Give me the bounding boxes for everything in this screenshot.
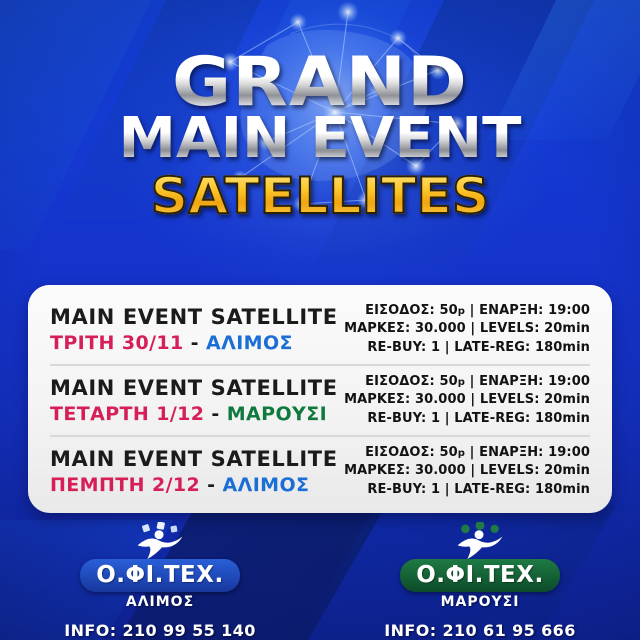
title-line-satellites: SATELLITES	[0, 171, 640, 221]
event-date: ΤΡΙΤΗ 30/11	[50, 332, 184, 354]
juggler-figure-icon	[129, 522, 191, 561]
event-detail-line-3: RE-BUY: 1 | LATE-REG: 180min	[344, 410, 590, 428]
brand-block-marousi: Ο.ΦΙ.ΤΕΧ. ΜΑΡΟΥΣΙ INFO: 210 61 95 666	[320, 520, 640, 640]
buyin-value: 50	[439, 445, 457, 460]
chips-label: ΜΑΡΚΕΣ:	[344, 463, 410, 478]
latereg-label: LATE-REG:	[454, 482, 530, 497]
event-details: ΕΙΣΟΔΟΣ: 50p | ΕΝΑΡΞΗ: 19:00 ΜΑΡΚΕΣ: 30.…	[344, 373, 590, 428]
start-value: 19:00	[548, 445, 590, 460]
brand-info-phone: INFO: 210 99 55 140	[64, 621, 255, 640]
event-detail-line-3: RE-BUY: 1 | LATE-REG: 180min	[344, 339, 590, 357]
levels-label: LEVELS:	[480, 392, 540, 407]
start-label: ΕΝΑΡΞΗ:	[479, 303, 543, 318]
levels-value: 20min	[544, 392, 590, 407]
table-row: MAIN EVENT SATELLITE ΠΕΜΠΤΗ 2/12 - ΑΛΙΜΟ…	[50, 435, 590, 505]
event-separator: -	[200, 474, 222, 496]
chips-value: 30.000	[415, 321, 466, 336]
chips-label: ΜΑΡΚΕΣ:	[344, 392, 410, 407]
latereg-value: 180min	[535, 340, 590, 355]
buyin-unit: p	[458, 306, 465, 317]
chips-value: 30.000	[415, 463, 466, 478]
juggler-figure-icon	[449, 522, 511, 561]
event-detail-line-1: ΕΙΣΟΔΟΣ: 50p | ΕΝΑΡΞΗ: 19:00	[344, 302, 590, 320]
event-detail-line-1: ΕΙΣΟΔΟΣ: 50p | ΕΝΑΡΞΗ: 19:00	[344, 444, 590, 462]
buyin-unit: p	[458, 448, 465, 459]
start-value: 19:00	[548, 303, 590, 318]
schedule-card: MAIN EVENT SATELLITE ΤΡΙΤΗ 30/11 - ΑΛΙΜΟ…	[28, 285, 612, 513]
rebuy-value: 1	[431, 340, 440, 355]
footer: Ο.ΦΙ.ΤΕΧ. ΑΛΙΜΟΣ INFO: 210 99 55 140 Ο.Φ…	[0, 520, 640, 640]
brand-city: ΜΑΡΟΥΣΙ	[441, 594, 520, 610]
event-venue: ΑΛΙΜΟΣ	[223, 474, 310, 496]
table-row: MAIN EVENT SATELLITE ΤΕΤΑΡΤΗ 1/12 - ΜΑΡΟ…	[50, 364, 590, 434]
start-label: ΕΝΑΡΞΗ:	[479, 445, 543, 460]
buyin-value: 50	[439, 303, 457, 318]
buyin-label: ΕΙΣΟΔΟΣ:	[365, 445, 435, 460]
event-title: MAIN EVENT SATELLITE	[50, 447, 338, 471]
event-detail-line-2: ΜΑΡΚΕΣ: 30.000 | LEVELS: 20min	[344, 391, 590, 409]
event-date-venue: ΤΕΤΑΡΤΗ 1/12 - ΜΑΡΟΥΣΙ	[50, 403, 338, 425]
event-date-venue: ΠΕΜΠΤΗ 2/12 - ΑΛΙΜΟΣ	[50, 474, 338, 496]
rebuy-label: RE-BUY:	[367, 411, 426, 426]
latereg-label: LATE-REG:	[454, 411, 530, 426]
event-left-block: MAIN EVENT SATELLITE ΤΕΤΑΡΤΗ 1/12 - ΜΑΡΟ…	[50, 376, 338, 425]
event-date: ΤΕΤΑΡΤΗ 1/12	[50, 403, 204, 425]
rebuy-label: RE-BUY:	[367, 482, 426, 497]
event-title: MAIN EVENT SATELLITE	[50, 376, 338, 400]
event-left-block: MAIN EVENT SATELLITE ΠΕΜΠΤΗ 2/12 - ΑΛΙΜΟ…	[50, 447, 338, 496]
brand-logo-text: Ο.ΦΙ.ΤΕΧ.	[400, 559, 560, 592]
levels-label: LEVELS:	[480, 321, 540, 336]
brand-city: ΑΛΙΜΟΣ	[126, 594, 194, 610]
brand-logo-text: Ο.ΦΙ.ΤΕΧ.	[80, 559, 240, 592]
brand-block-alimos: Ο.ΦΙ.ΤΕΧ. ΑΛΙΜΟΣ INFO: 210 99 55 140	[0, 520, 320, 640]
chips-label: ΜΑΡΚΕΣ:	[344, 321, 410, 336]
chips-value: 30.000	[415, 392, 466, 407]
latereg-label: LATE-REG:	[454, 340, 530, 355]
rebuy-label: RE-BUY:	[367, 340, 426, 355]
table-row: MAIN EVENT SATELLITE ΤΡΙΤΗ 30/11 - ΑΛΙΜΟ…	[50, 295, 590, 363]
event-title: MAIN EVENT SATELLITE	[50, 305, 338, 329]
latereg-value: 180min	[535, 482, 590, 497]
event-venue: ΑΛΙΜΟΣ	[206, 332, 293, 354]
levels-label: LEVELS:	[480, 463, 540, 478]
levels-value: 20min	[544, 463, 590, 478]
event-separator: -	[204, 403, 226, 425]
buyin-unit: p	[458, 377, 465, 388]
start-label: ΕΝΑΡΞΗ:	[479, 374, 543, 389]
event-detail-line-2: ΜΑΡΚΕΣ: 30.000 | LEVELS: 20min	[344, 462, 590, 480]
event-detail-line-3: RE-BUY: 1 | LATE-REG: 180min	[344, 481, 590, 499]
poster-title: GRAND MAIN EVENT SATELLITES	[0, 50, 640, 221]
title-line-main-event: MAIN EVENT	[0, 111, 640, 167]
start-value: 19:00	[548, 374, 590, 389]
buyin-value: 50	[439, 374, 457, 389]
levels-value: 20min	[544, 321, 590, 336]
buyin-label: ΕΙΣΟΔΟΣ:	[365, 303, 435, 318]
event-detail-line-1: ΕΙΣΟΔΟΣ: 50p | ΕΝΑΡΞΗ: 19:00	[344, 373, 590, 391]
brand-info-phone: INFO: 210 61 95 666	[384, 621, 575, 640]
poster-root: GRAND MAIN EVENT SATELLITES MAIN EVENT S…	[0, 0, 640, 640]
latereg-value: 180min	[535, 411, 590, 426]
event-venue: ΜΑΡΟΥΣΙ	[227, 403, 327, 425]
event-date-venue: ΤΡΙΤΗ 30/11 - ΑΛΙΜΟΣ	[50, 332, 338, 354]
event-left-block: MAIN EVENT SATELLITE ΤΡΙΤΗ 30/11 - ΑΛΙΜΟ…	[50, 305, 338, 354]
event-separator: -	[184, 332, 206, 354]
rebuy-value: 1	[431, 411, 440, 426]
event-details: ΕΙΣΟΔΟΣ: 50p | ΕΝΑΡΞΗ: 19:00 ΜΑΡΚΕΣ: 30.…	[344, 302, 590, 357]
event-details: ΕΙΣΟΔΟΣ: 50p | ΕΝΑΡΞΗ: 19:00 ΜΑΡΚΕΣ: 30.…	[344, 444, 590, 499]
event-detail-line-2: ΜΑΡΚΕΣ: 30.000 | LEVELS: 20min	[344, 320, 590, 338]
rebuy-value: 1	[431, 482, 440, 497]
event-date: ΠΕΜΠΤΗ 2/12	[50, 474, 200, 496]
buyin-label: ΕΙΣΟΔΟΣ:	[365, 374, 435, 389]
